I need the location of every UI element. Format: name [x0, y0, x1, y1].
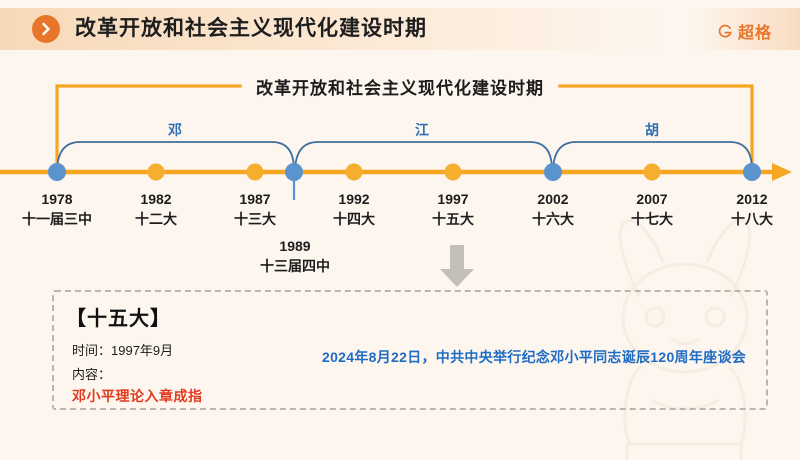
leader-label-hu: 胡: [622, 120, 682, 140]
card-content-label: 内容：: [72, 364, 111, 383]
tick-name: 十一届三中: [2, 209, 112, 230]
header-bar: 改革开放和社会主义现代化建设时期 超格: [0, 8, 800, 50]
card-note-text: 2024年8月22日，中共中央举行纪念邓小平同志诞辰120周年座谈会: [322, 347, 746, 367]
card-highlight-text: 邓小平理论入章成指: [72, 386, 203, 406]
chevron-right-icon: [32, 15, 60, 43]
timeline-tick-1982: 1982 十二大: [101, 190, 211, 230]
callout-name: 十三届四中: [240, 256, 350, 277]
info-card: 【十五大】 时间：1997年9月 内容： 邓小平理论入章成指 2024年8月22…: [52, 290, 768, 410]
leader-label-jiang: 江: [392, 120, 452, 140]
callout-year: 1989: [240, 236, 350, 256]
timeline-tick-2012: 2012 十八大: [697, 190, 800, 230]
timeline-tick-1978: 1978 十一届三中: [2, 190, 112, 230]
leader-label-deng: 邓: [145, 120, 205, 140]
brand-name: 超格: [738, 19, 772, 43]
tick-year: 1992: [299, 190, 409, 209]
timeline-tick-2007: 2007 十七大: [597, 190, 707, 230]
tick-year: 2012: [697, 190, 800, 209]
tick-name: 十五大: [398, 209, 508, 230]
timeline-tick-1992: 1992 十四大: [299, 190, 409, 230]
timeline-tick-1997: 1997 十五大: [398, 190, 508, 230]
tick-name: 十七大: [597, 209, 707, 230]
tick-year: 2002: [498, 190, 608, 209]
arrow-down-icon: [437, 245, 477, 287]
timeline-callout-1989: 1989 十三届四中: [240, 236, 350, 277]
timeline-tick-2002: 2002 十六大: [498, 190, 608, 230]
tick-name: 十三大: [200, 209, 310, 230]
brand-logo: 超格: [717, 19, 772, 43]
card-heading: 【十五大】: [66, 302, 171, 331]
page-title: 改革开放和社会主义现代化建设时期: [75, 16, 427, 42]
tick-name: 十六大: [498, 209, 608, 230]
timeline-tick-1987: 1987 十三大: [200, 190, 310, 230]
tick-name: 十四大: [299, 209, 409, 230]
tick-year: 2007: [597, 190, 707, 209]
tick-name: 十八大: [697, 209, 800, 230]
card-time-text: 时间：1997年9月: [72, 340, 173, 359]
g-logo-icon: [717, 23, 733, 39]
tick-year: 1997: [398, 190, 508, 209]
tick-year: 1978: [2, 190, 112, 209]
tick-year: 1982: [101, 190, 211, 209]
tick-year: 1987: [200, 190, 310, 209]
timeline-bracket-title: 改革开放和社会主义现代化建设时期: [0, 74, 800, 99]
tick-name: 十二大: [101, 209, 211, 230]
